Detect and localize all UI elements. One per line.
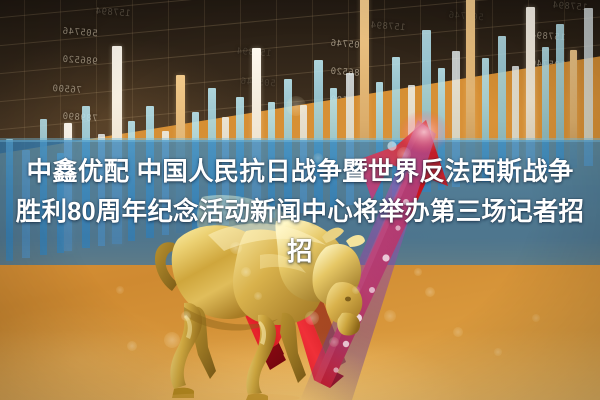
bokeh-particle <box>425 287 435 297</box>
headline-line-1: 中鑫优配 中国人民抗日战争暨世界反法西斯战争 <box>0 152 600 192</box>
banner-image: 1578941578945057465057469865209865207650… <box>0 0 600 400</box>
headline-line-3: 招 <box>0 232 600 272</box>
bokeh-particle <box>116 286 124 294</box>
bokeh-particle <box>532 314 540 322</box>
bokeh-particle <box>254 292 262 300</box>
bokeh-particle <box>286 96 306 116</box>
bokeh-particle <box>453 327 463 337</box>
bokeh-particle <box>164 332 180 348</box>
bokeh-particle <box>329 337 339 347</box>
bokeh-particle <box>305 311 319 325</box>
bokeh-particle <box>494 348 502 356</box>
bokeh-particle <box>127 341 137 351</box>
headline-line-2: 胜利80周年纪念活动新闻中心将举办第三场记者招 <box>0 192 600 232</box>
bokeh-particle <box>181 311 191 321</box>
headline-text: 中鑫优配 中国人民抗日战争暨世界反法西斯战争 胜利80周年纪念活动新闻中心将举办… <box>0 152 600 272</box>
bokeh-particle <box>352 286 360 294</box>
bokeh-particle <box>384 310 396 322</box>
